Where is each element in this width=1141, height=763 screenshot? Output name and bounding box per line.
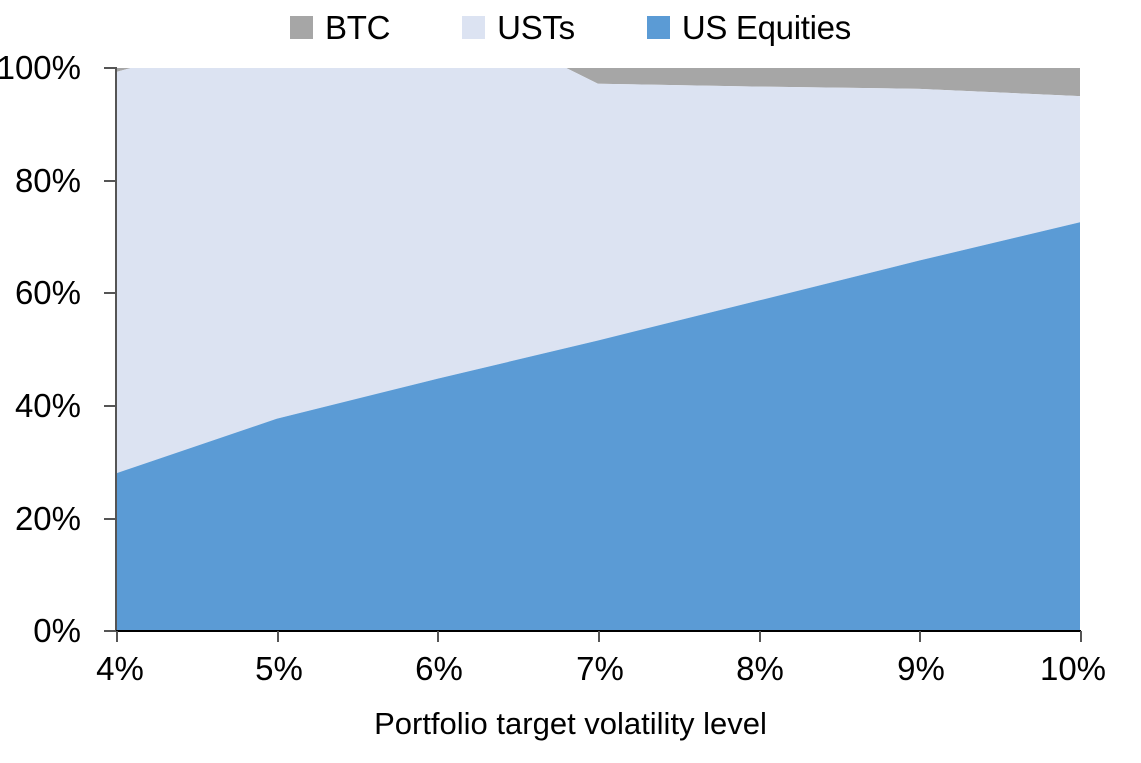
y-tick-100	[104, 67, 116, 69]
legend-swatch-us-equities	[647, 16, 670, 39]
x-tick-5	[277, 631, 279, 642]
y-tick-label-20: 20%	[0, 502, 81, 535]
y-tick-label-100: 100%	[0, 51, 81, 84]
y-tick-40	[104, 405, 116, 407]
x-tick-7	[598, 631, 600, 642]
legend-swatch-usts	[462, 16, 485, 39]
legend-item-btc[interactable]: BTC	[290, 11, 390, 44]
x-tick-label-5: 5%	[199, 652, 359, 685]
x-tick-label-10: 10%	[993, 652, 1141, 685]
x-axis-title: Portfolio target volatility level	[0, 706, 1141, 742]
legend-label-usts: USTs	[497, 11, 575, 44]
x-tick-10	[1080, 631, 1082, 642]
plot-area	[116, 68, 1080, 631]
x-tick-9	[919, 631, 921, 642]
legend-item-usts[interactable]: USTs	[462, 11, 575, 44]
y-tick-20	[104, 518, 116, 520]
legend-label-us-equities: US Equities	[682, 11, 851, 44]
y-axis-line	[115, 67, 117, 632]
y-tick-0	[104, 630, 116, 632]
y-tick-label-60: 60%	[0, 276, 81, 309]
y-tick-80	[104, 180, 116, 182]
y-tick-label-80: 80%	[0, 164, 81, 197]
legend-swatch-btc	[290, 16, 313, 39]
x-tick-label-6: 6%	[359, 652, 519, 685]
x-tick-label-9: 9%	[841, 652, 1001, 685]
x-tick-label-4: 4%	[40, 652, 200, 685]
y-tick-label-40: 40%	[0, 389, 81, 422]
legend-label-btc: BTC	[325, 11, 390, 44]
chart-legend: BTC USTs US Equities	[0, 6, 1141, 48]
x-tick-label-8: 8%	[680, 652, 840, 685]
legend-item-us-equities[interactable]: US Equities	[647, 11, 851, 44]
stacked-area-chart: BTC USTs US Equities 100% 80% 60% 40% 20…	[0, 0, 1141, 763]
y-tick-label-0: 0%	[0, 614, 81, 647]
x-tick-label-7: 7%	[520, 652, 680, 685]
area-series-svg	[116, 68, 1080, 631]
y-tick-60	[104, 292, 116, 294]
x-tick-6	[437, 631, 439, 642]
x-tick-8	[759, 631, 761, 642]
x-tick-4	[116, 631, 118, 642]
